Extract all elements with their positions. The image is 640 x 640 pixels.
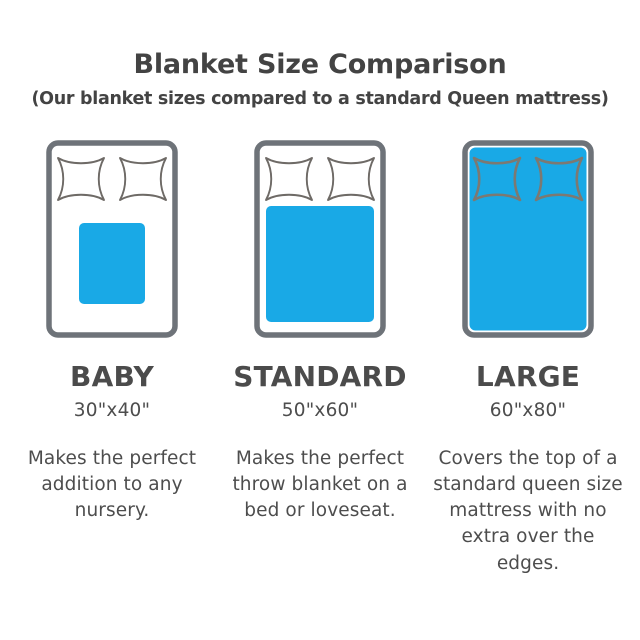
size-name-standard: STANDARD [233,363,407,391]
size-dimensions-large: 60"x80" [490,402,566,421]
header: Blanket Size Comparison (Our blanket siz… [0,0,640,109]
blanket-size-comparison-infographic: Blanket Size Comparison (Our blanket siz… [0,0,640,640]
pillow-left-icon [266,158,312,200]
pillow-left-icon [58,158,104,200]
size-column-standard: STANDARD 50"x60" Makes the perfect throw… [216,140,424,524]
size-description-large: Covers the top of a standard queen size … [430,446,626,577]
bed-top-view-icon [462,140,594,338]
size-column-large: LARGE 60"x80" Covers the top of a standa… [424,140,632,577]
page-subtitle: (Our blanket sizes compared to a standar… [0,89,640,109]
page-title: Blanket Size Comparison [0,50,640,80]
size-name-baby: BABY [70,363,154,391]
bed-top-view-icon [46,140,178,338]
size-dimensions-baby: 30"x40" [74,402,150,421]
pillow-right-icon [328,158,374,200]
size-name-large: LARGE [476,363,580,391]
bed-top-view-icon [254,140,386,338]
size-description-baby: Makes the perfect addition to any nurser… [14,446,210,525]
size-column-baby: BABY 30"x40" Makes the perfect addition … [8,140,216,524]
size-dimensions-standard: 50"x60" [282,402,358,421]
size-columns: BABY 30"x40" Makes the perfect addition … [0,140,640,577]
bed-diagram-standard [216,140,424,345]
bed-diagram-large [424,140,632,345]
size-description-standard: Makes the perfect throw blanket on a bed… [222,446,418,525]
blanket-overlay-standard [266,206,374,322]
blanket-overlay-large [470,148,587,331]
pillow-right-icon [120,158,166,200]
blanket-overlay-baby [79,223,145,304]
bed-diagram-baby [8,140,216,345]
